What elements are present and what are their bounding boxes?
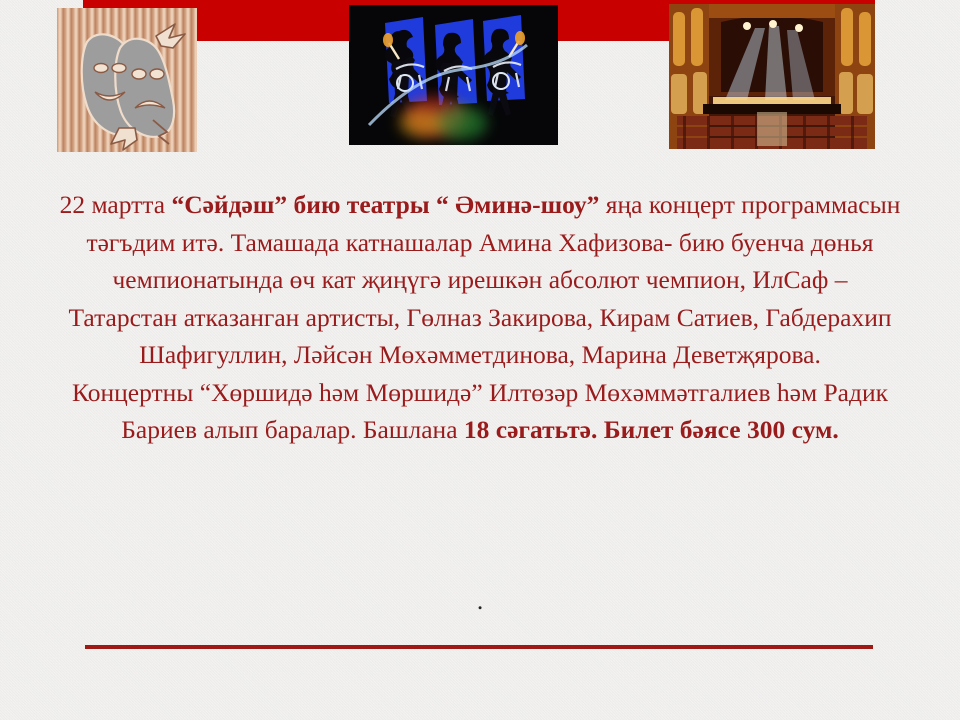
theatre-masks-icon — [57, 8, 197, 152]
bottom-divider — [85, 645, 873, 649]
dancers-stage-illustration — [349, 5, 558, 145]
paragraph-1: 22 мартта “Сәйдәш” бию театры “ Әминә-шо… — [56, 186, 904, 374]
announcement-text: 22 мартта “Сәйдәш” бию театры “ Әминә-шо… — [56, 186, 904, 449]
slide-canvas: 22 мартта “Сәйдәш” бию театры “ Әминә-шо… — [0, 0, 960, 720]
run-time-price: 18 сәгатьтә. Билет бәясе 300 сум. — [464, 415, 839, 444]
dance-performance-photo — [349, 5, 558, 145]
theatre-auditorium-photo — [669, 4, 875, 149]
trailing-dot: . — [56, 586, 904, 616]
auditorium-illustration — [669, 4, 875, 149]
run-theatre-name: “Сәйдәш” бию театры “ Әминә-шоу” — [171, 190, 599, 219]
run-date: 22 мартта — [60, 190, 172, 219]
theatre-masks-photo — [57, 8, 197, 152]
paragraph-2: Концертны “Хөршидә һәм Мөршидә” Илтөзәр … — [56, 374, 904, 449]
